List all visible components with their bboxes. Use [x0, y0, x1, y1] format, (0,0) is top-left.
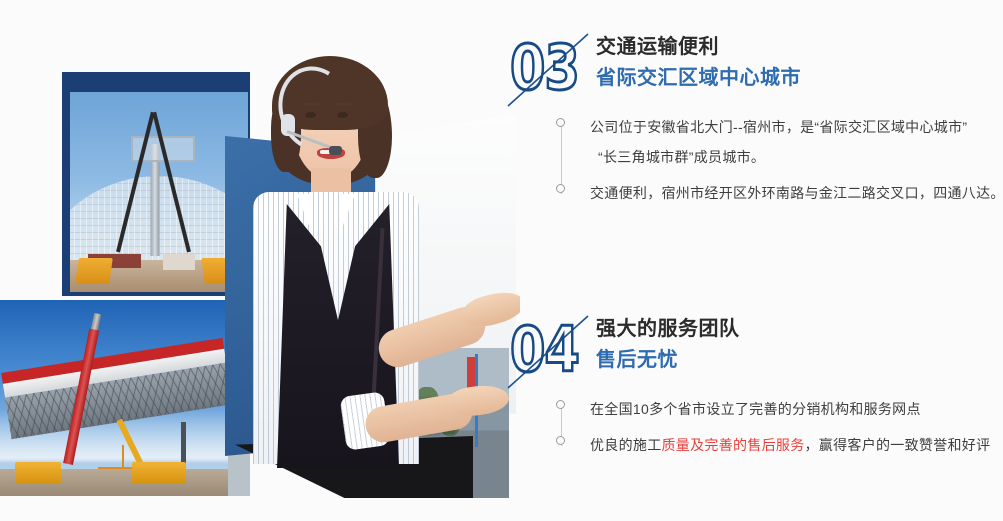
bullet-text-part-3: ，赢得客户的一致赞誉和好评	[805, 437, 991, 453]
bullet-text-continued: “长三角城市群”成员城市。	[590, 142, 1003, 172]
yellow-crane-truck-left	[15, 462, 61, 484]
canopy-lifting-photo	[0, 300, 244, 496]
section-04-title-main: 强大的服务团队	[596, 314, 740, 344]
bullet-circle-icon	[556, 184, 565, 193]
headset-microphone-icon	[329, 146, 342, 155]
bullet-circle-icon	[556, 436, 565, 445]
section-04-title-sub: 售后无忧	[596, 344, 740, 376]
section-03-bullet-list: 公司位于安徽省北大门--宿州市，是“省际交汇区域中心城市” “长三角城市群”成员…	[556, 112, 1003, 208]
bullet-circle-icon	[556, 400, 565, 409]
bullet-text-rich: 优良的施工质量及完善的售后服务，赢得客户的一致赞誉和好评	[590, 430, 1003, 460]
bullet-text-part-1: 优良的施工	[590, 437, 662, 453]
bullet-circle-icon	[556, 118, 565, 127]
section-04-bullet-list: 在全国10多个省市设立了完善的分销机构和服务网点 优良的施工质量及完善的售后服务…	[556, 394, 1003, 460]
section-03-title-sub: 省际交汇区域中心城市	[596, 62, 801, 94]
feature-section-04: 04 强大的服务团队 售后无忧 在全国10多个省市设立了完善的分销机构和服务网点…	[506, 312, 1003, 466]
list-item: 在全国10多个省市设立了完善的分销机构和服务网点	[590, 394, 1003, 424]
bullet-text: 公司位于安徽省北大门--宿州市，是“省际交汇区域中心城市”	[590, 112, 1003, 142]
lower-hand-presenting	[447, 382, 510, 419]
customer-service-agent-photo	[225, 18, 520, 508]
section-03-header: 03 交通运输便利 省际交汇区域中心城市	[506, 30, 1003, 112]
list-item: 优良的施工质量及完善的售后服务，赢得客户的一致赞誉和好评	[590, 430, 1003, 460]
bullet-text-highlight: 质量及完善的售后服务	[662, 437, 805, 453]
bullet-text: 在全国10多个省市设立了完善的分销机构和服务网点	[590, 394, 1003, 424]
feature-section-03: 03 交通运输便利 省际交汇区域中心城市 公司位于安徽省北大门--宿州市，是“省…	[506, 30, 1003, 214]
site-shed-white	[163, 254, 195, 270]
yellow-crane-truck-right	[132, 462, 186, 484]
steel-dome-construction-photo	[62, 72, 250, 296]
agent-figure	[225, 18, 520, 508]
section-03-title-main: 交通运输便利	[596, 32, 801, 62]
list-item: 公司位于安徽省北大门--宿州市，是“省际交汇区域中心城市” “长三角城市群”成员…	[590, 112, 1003, 172]
section-03-number: 03	[510, 32, 579, 104]
shirt-collar-right	[339, 194, 355, 236]
section-03-titles: 交通运输便利 省际交汇区域中心城市	[596, 32, 801, 94]
section-04-number: 04	[510, 314, 579, 386]
section-03-number-badge: 03	[506, 30, 590, 110]
list-item: 交通便利，宿州市经开区外环南路与金江二路交叉口，四通八达。	[590, 178, 1003, 208]
section-04-header: 04 强大的服务团队 售后无忧	[506, 312, 1003, 394]
section-04-number-badge: 04	[506, 312, 590, 392]
yellow-crane-left	[75, 258, 113, 284]
promo-banner: 03 交通运输便利 省际交汇区域中心城市 公司位于安徽省北大门--宿州市，是“省…	[0, 0, 1003, 521]
section-04-titles: 强大的服务团队 售后无忧	[596, 314, 740, 376]
dome-photo-frame	[70, 92, 248, 292]
bullet-text: 交通便利，宿州市经开区外环南路与金江二路交叉口，四通八达。	[590, 178, 1003, 208]
